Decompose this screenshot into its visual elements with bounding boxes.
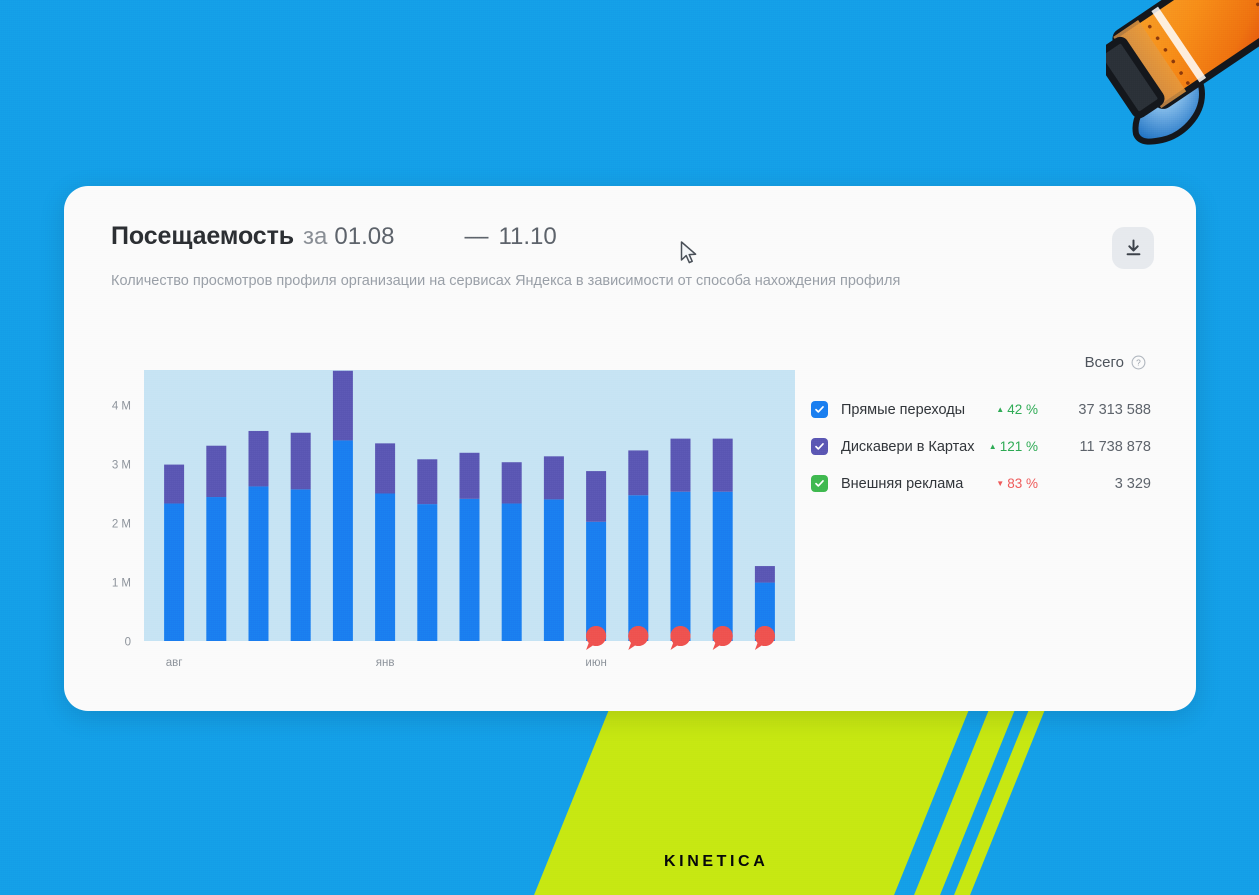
chart-bar-segment[interactable] [417,504,437,641]
mouse-cursor [680,241,698,266]
brand-band-stripe-2 [948,711,1049,895]
legend-delta-value: 121 % [1000,439,1038,454]
chart-bar-segment[interactable] [502,462,522,503]
chart-bar-segment[interactable] [586,471,606,522]
chart-alert-marker[interactable] [586,626,606,650]
chart-bar-segment[interactable] [460,453,480,499]
chart-alert-marker[interactable] [755,626,775,650]
chart-bar-segment[interactable] [671,439,691,492]
y-axis-tick-label: 3 M [112,460,131,472]
triangle-down-icon: ▼ [996,480,1004,488]
y-axis-tick-label: 1 M [112,578,131,590]
legend-label: Прямые переходы [841,402,965,418]
question-mark-icon[interactable]: ? [1131,355,1146,370]
x-axis-tick-label: авг [166,657,183,669]
chart-bar-segment[interactable] [460,499,480,641]
chart-bar-segment[interactable] [713,439,733,492]
chart-bar-segment[interactable] [291,489,311,641]
chart-bar-segment[interactable] [628,495,648,641]
legend-checkbox[interactable] [811,401,828,418]
chart-bar-segment[interactable] [544,456,564,499]
legend-total-label: Всего [1085,354,1124,371]
chart-bar-segment[interactable] [164,504,184,641]
legend-row[interactable]: Дискавери в Картах▲121 %11 738 878 [811,428,1151,465]
chart-bar-segment[interactable] [333,440,353,641]
check-icon [814,441,825,452]
legend-label: Дискавери в Картах [841,439,974,455]
legend-checkbox[interactable] [811,438,828,455]
legend-row[interactable]: Прямые переходы▲42 %37 313 588 [811,391,1151,428]
kinetica-brand-band [0,711,1259,895]
chart-alert-marker[interactable] [670,626,690,650]
legend-delta: ▲121 % [989,439,1038,454]
chart-alert-marker[interactable] [628,626,648,650]
chart-bar-segment[interactable] [375,494,395,642]
triangle-up-icon: ▲ [989,443,997,451]
chart-bar-segment[interactable] [333,371,353,441]
chart-bar-segment[interactable] [206,497,226,641]
y-axis-tick-label: 2 M [112,519,131,531]
kinetica-wordmark: KINETICA [664,853,768,871]
legend-delta-value: 83 % [1007,476,1038,491]
legend-total-value: 37 313 588 [1047,402,1151,418]
legend-delta-value: 42 % [1007,402,1038,417]
x-axis-tick-label: июн [585,657,606,669]
chart-bar-segment[interactable] [249,431,269,486]
analytics-card: Посещаемость за 01.08 — 11.10 Количество… [64,186,1196,711]
chart-bar-segment[interactable] [713,492,733,641]
chart-bar-segment[interactable] [375,443,395,493]
chart-bar-segment[interactable] [206,446,226,497]
brand-band-stripe-1 [908,711,1019,895]
chart-bar-segment[interactable] [671,492,691,641]
chart-legend: Всего ? Прямые переходы▲42 %37 313 588Ди… [811,354,1151,502]
chart-alert-marker[interactable] [713,626,733,650]
chart-bar-segment[interactable] [417,459,437,504]
legend-total-value: 3 329 [1047,476,1151,492]
chart-bar-segment[interactable] [164,465,184,504]
x-axis-tick-label: янв [376,657,395,669]
svg-text:?: ? [1136,358,1141,368]
triangle-up-icon: ▲ [996,406,1004,414]
legend-row[interactable]: Внешняя реклама▼83 %3 329 [811,465,1151,502]
chart-bar-segment[interactable] [544,499,564,641]
chart-bar-segment[interactable] [586,522,606,641]
highlighter-pen-illustration [1106,0,1259,174]
chart-bar-segment[interactable] [502,504,522,641]
legend-delta: ▲42 % [996,402,1038,417]
y-axis-tick-label: 4 M [112,401,131,413]
legend-total-header: Всего ? [811,354,1151,371]
check-icon [814,478,825,489]
chart-bar-segment[interactable] [249,486,269,641]
legend-checkbox[interactable] [811,475,828,492]
legend-total-value: 11 738 878 [1047,439,1151,455]
chart-bar-segment[interactable] [628,450,648,495]
chart-bar-segment[interactable] [755,566,775,583]
check-icon [814,404,825,415]
legend-label: Внешняя реклама [841,476,963,492]
y-axis-tick-label: 0 [125,637,131,649]
chart-bar-segment[interactable] [291,433,311,490]
legend-delta: ▼83 % [996,476,1038,491]
